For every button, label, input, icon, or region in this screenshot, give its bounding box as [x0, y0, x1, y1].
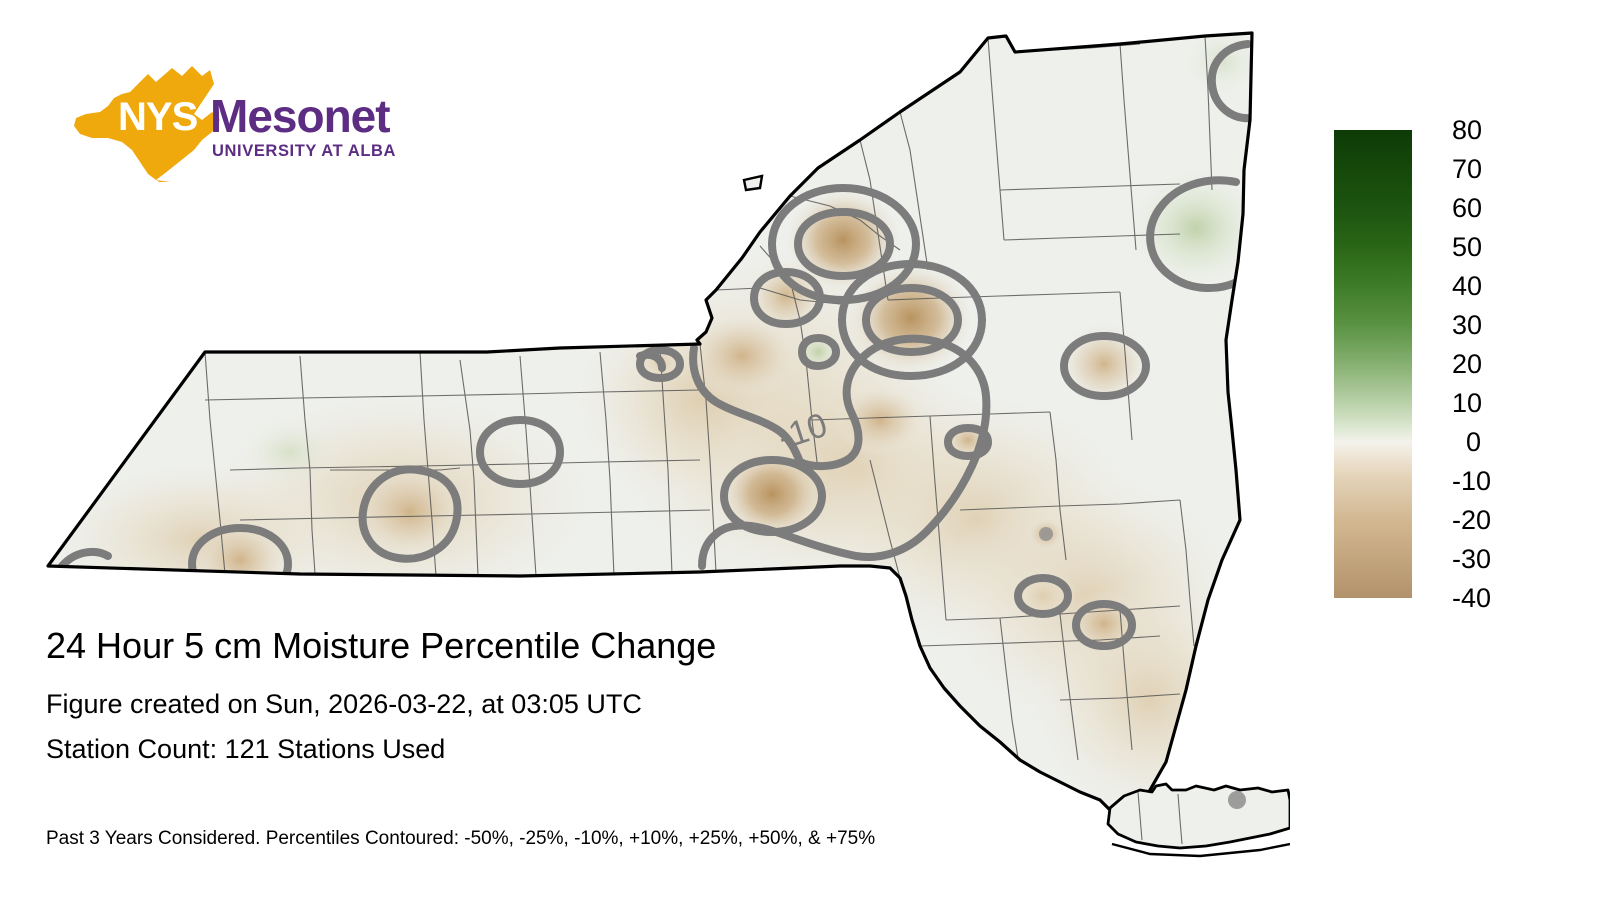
colorbar-tick: -30 [1452, 546, 1491, 573]
logo-mesonet-text: Mesonet [210, 90, 390, 142]
colorbar-tick: 80 [1452, 117, 1482, 144]
colorbar-tick: -20 [1452, 507, 1491, 534]
colorbar-tick: 50 [1452, 234, 1482, 261]
colorbar-tick: 70 [1452, 156, 1482, 183]
nys-mesonet-logo: NYS Mesonet UNIVERSITY AT ALBANY [52, 62, 397, 182]
colorbar-tick: -40 [1452, 585, 1491, 612]
station-marker [1039, 527, 1053, 541]
colorbar-tick: 60 [1452, 195, 1482, 222]
anomaly-blob [240, 416, 340, 488]
colorbar-tick: 10 [1452, 390, 1482, 417]
colorbar-tick: 20 [1452, 351, 1482, 378]
colorbar-tick: 40 [1452, 273, 1482, 300]
logo-state-tail [156, 180, 212, 182]
colorbar-tick: 0 [1466, 429, 1481, 456]
colorbar-tick-labels: 80 70 60 50 40 30 20 10 0 -10 -20 -30 -4… [1452, 130, 1572, 598]
colorbar-gradient [1334, 130, 1412, 598]
logo-nys-text: NYS [118, 95, 198, 139]
logo-tagline: UNIVERSITY AT ALBANY [212, 142, 397, 160]
long-island-group [1108, 784, 1290, 856]
footnote-text: Past 3 Years Considered. Percentiles Con… [46, 828, 875, 850]
island-outline [744, 176, 762, 190]
colorbar: 80 70 60 50 40 30 20 10 0 -10 -20 -30 -4… [1334, 130, 1574, 600]
figure-created-text: Figure created on Sun, 2026-03-22, at 03… [46, 691, 1146, 718]
caption-block: 24 Hour 5 cm Moisture Percentile Change … [46, 624, 1146, 763]
page-title: 24 Hour 5 cm Moisture Percentile Change [46, 624, 1146, 667]
colorbar-tick: -10 [1452, 468, 1491, 495]
station-count-text: Station Count: 121 Stations Used [46, 736, 1146, 763]
figure-root: -10 [0, 0, 1600, 900]
long-island-landmass [1108, 784, 1290, 848]
station-marker [1228, 791, 1246, 809]
colorbar-tick: 30 [1452, 312, 1482, 339]
